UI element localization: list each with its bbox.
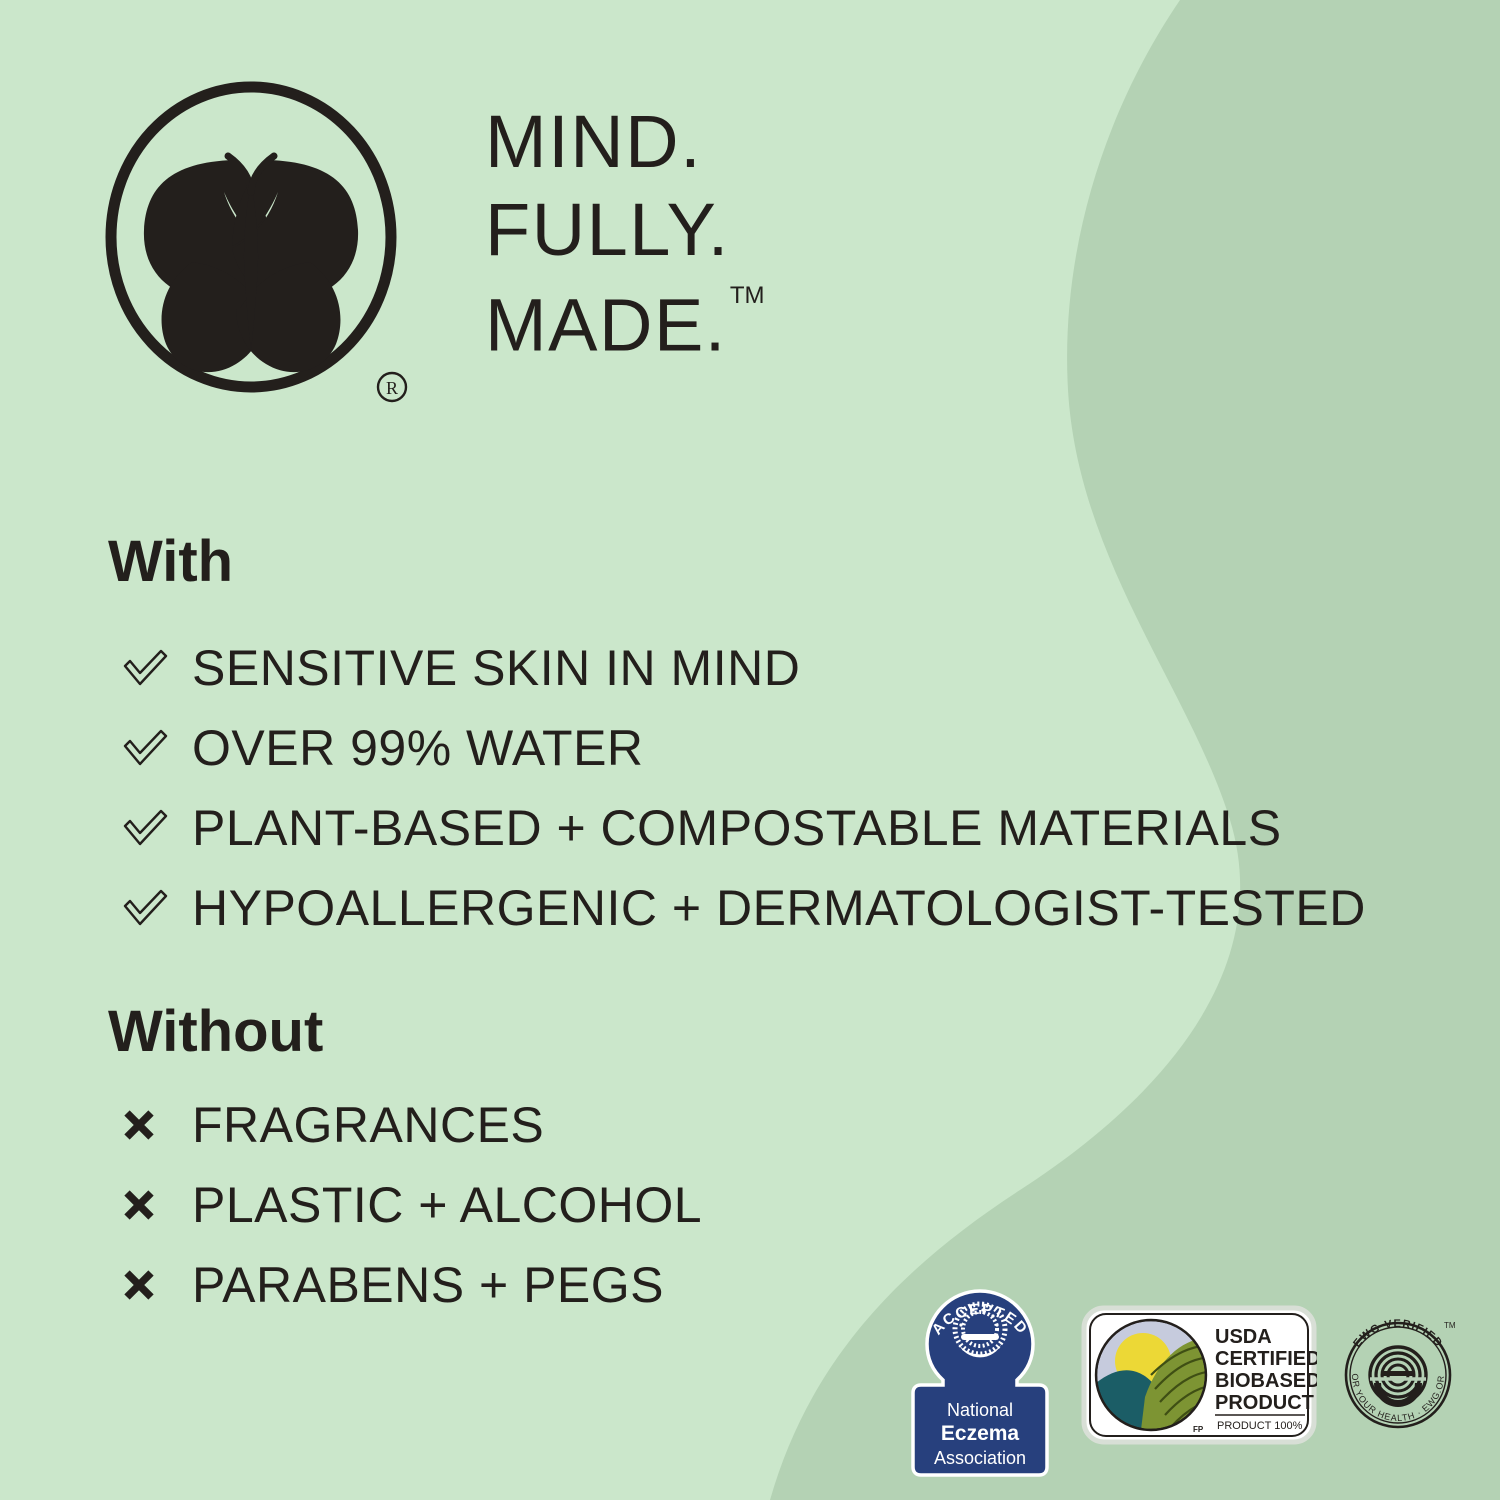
list-item: PLASTIC + ALCOHOL bbox=[0, 1165, 1300, 1245]
brand-tagline: MIND. FULLY. MADE.TM bbox=[485, 98, 865, 370]
usda-corner-mark: FP bbox=[1193, 1425, 1204, 1434]
nea-line-2: Eczema bbox=[941, 1422, 1020, 1445]
list-item: PLANT-BASED + COMPOSTABLE MATERIALS bbox=[0, 788, 1300, 868]
list-item-label: PLANT-BASED + COMPOSTABLE MATERIALS bbox=[192, 799, 1282, 857]
check-icon bbox=[122, 727, 168, 769]
brand-line-3: MADE.TM bbox=[485, 274, 865, 370]
svg-text:· EWG VERIFIED ·: · EWG VERIFIED · bbox=[1346, 1318, 1450, 1357]
usda-line-3: BIOBASED bbox=[1215, 1370, 1317, 1392]
brand-line-3-text: MADE. bbox=[485, 284, 727, 367]
usda-line-4: PRODUCT bbox=[1215, 1392, 1314, 1414]
without-section-heading: Without bbox=[108, 998, 323, 1065]
usda-line-1: USDA bbox=[1215, 1326, 1272, 1348]
list-item-label: FRAGRANCES bbox=[192, 1096, 544, 1154]
with-section-heading: With bbox=[108, 528, 233, 595]
list-item-label: PARABENS + PEGS bbox=[192, 1256, 664, 1314]
trademark-superscript: TM bbox=[730, 282, 765, 309]
check-icon bbox=[122, 887, 168, 929]
brand-line-2: FULLY. bbox=[485, 186, 865, 274]
brand-line-1-text: MIND. bbox=[485, 100, 702, 183]
ewg-arc-top: · EWG VERIFIED · bbox=[1346, 1318, 1450, 1357]
list-item-label: OVER 99% WATER bbox=[192, 719, 644, 777]
svg-text:R: R bbox=[386, 378, 398, 398]
brand-lockup: R MIND. FULLY. MADE.TM bbox=[100, 70, 860, 420]
national-eczema-association-badge: ACCEPTED National Eczema Association bbox=[905, 1285, 1055, 1481]
ewg-verified-badge: · EWG VERIFIED · FOR YOUR HEALTH · EWG.O… bbox=[1333, 1309, 1463, 1439]
list-item-label: HYPOALLERGENIC + DERMATOLOGIST-TESTED bbox=[192, 879, 1366, 937]
brand-line-2-text: FULLY. bbox=[485, 188, 730, 271]
with-item-list: SENSITIVE SKIN IN MIND OVER 99% WATER PL… bbox=[0, 628, 1300, 948]
butterfly-in-circle-logo bbox=[100, 70, 425, 415]
list-item-label: SENSITIVE SKIN IN MIND bbox=[192, 639, 800, 697]
list-item: OVER 99% WATER bbox=[0, 708, 1300, 788]
nea-line-1: National bbox=[947, 1400, 1013, 1420]
marketing-panel: R MIND. FULLY. MADE.TM With SENSITIVE SK… bbox=[0, 0, 1500, 1500]
usda-line-2: CERTIFIED bbox=[1215, 1348, 1317, 1370]
list-item: FRAGRANCES bbox=[0, 1085, 1300, 1165]
check-icon bbox=[122, 807, 168, 849]
close-x-icon bbox=[122, 1188, 156, 1222]
registered-trademark-icon: R bbox=[375, 370, 409, 404]
ewg-trademark: TM bbox=[1444, 1321, 1456, 1330]
close-x-icon bbox=[122, 1108, 156, 1142]
usda-certified-biobased-product-badge: FP USDA CERTIFIED BIOBASED PRODUCT PRODU… bbox=[1081, 1305, 1317, 1445]
close-x-icon bbox=[122, 1268, 156, 1302]
nea-line-3: Association bbox=[934, 1448, 1026, 1468]
list-item: HYPOALLERGENIC + DERMATOLOGIST-TESTED bbox=[0, 868, 1300, 948]
list-item-label: PLASTIC + ALCOHOL bbox=[192, 1176, 702, 1234]
certification-badge-row: ACCEPTED National Eczema Association bbox=[905, 1285, 1465, 1485]
check-icon bbox=[122, 647, 168, 689]
brand-line-1: MIND. bbox=[485, 98, 865, 186]
usda-footer: PRODUCT 100% bbox=[1217, 1420, 1303, 1432]
list-item: SENSITIVE SKIN IN MIND bbox=[0, 628, 1300, 708]
